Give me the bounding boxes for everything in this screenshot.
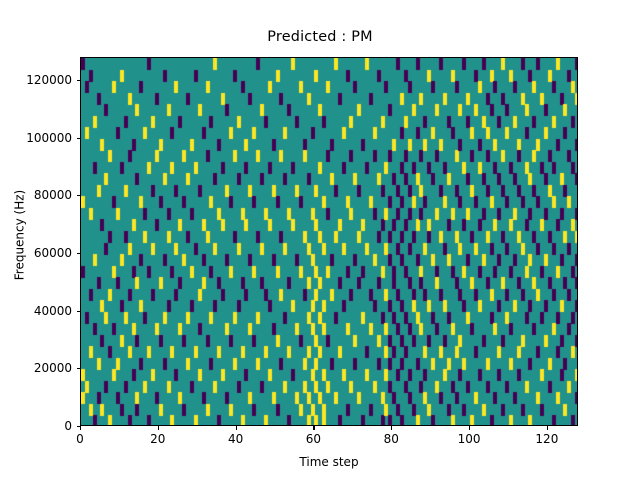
chart-title: Predicted : PM — [0, 29, 640, 45]
y-tick-label: 100000 — [0, 131, 72, 145]
heatmap-plot-area — [80, 57, 578, 426]
y-tick-label: 120000 — [0, 73, 72, 87]
matplotlib-figure: Predicted : PM Frequency (Hz) 0200004000… — [0, 0, 640, 480]
x-tick-label: 20 — [128, 432, 188, 446]
x-tick-mark — [80, 426, 81, 430]
y-tick-label: 40000 — [0, 304, 72, 318]
x-tick-label: 100 — [439, 432, 499, 446]
x-tick-mark — [547, 426, 548, 430]
x-tick-label: 120 — [517, 432, 577, 446]
x-tick-mark — [469, 426, 470, 430]
y-tick-label: 80000 — [0, 188, 72, 202]
x-tick-mark — [158, 426, 159, 430]
x-tick-mark — [236, 426, 237, 430]
x-tick-mark — [313, 426, 314, 430]
y-tick-label: 20000 — [0, 361, 72, 375]
y-tick-label: 60000 — [0, 246, 72, 260]
x-tick-mark — [391, 426, 392, 430]
x-tick-label: 40 — [206, 432, 266, 446]
x-tick-label: 60 — [283, 432, 343, 446]
y-tick-label: 0 — [0, 419, 72, 433]
x-axis-label: Time step — [80, 455, 578, 469]
heatmap-cells — [81, 58, 578, 426]
x-tick-label: 0 — [50, 432, 110, 446]
x-tick-label: 80 — [361, 432, 421, 446]
